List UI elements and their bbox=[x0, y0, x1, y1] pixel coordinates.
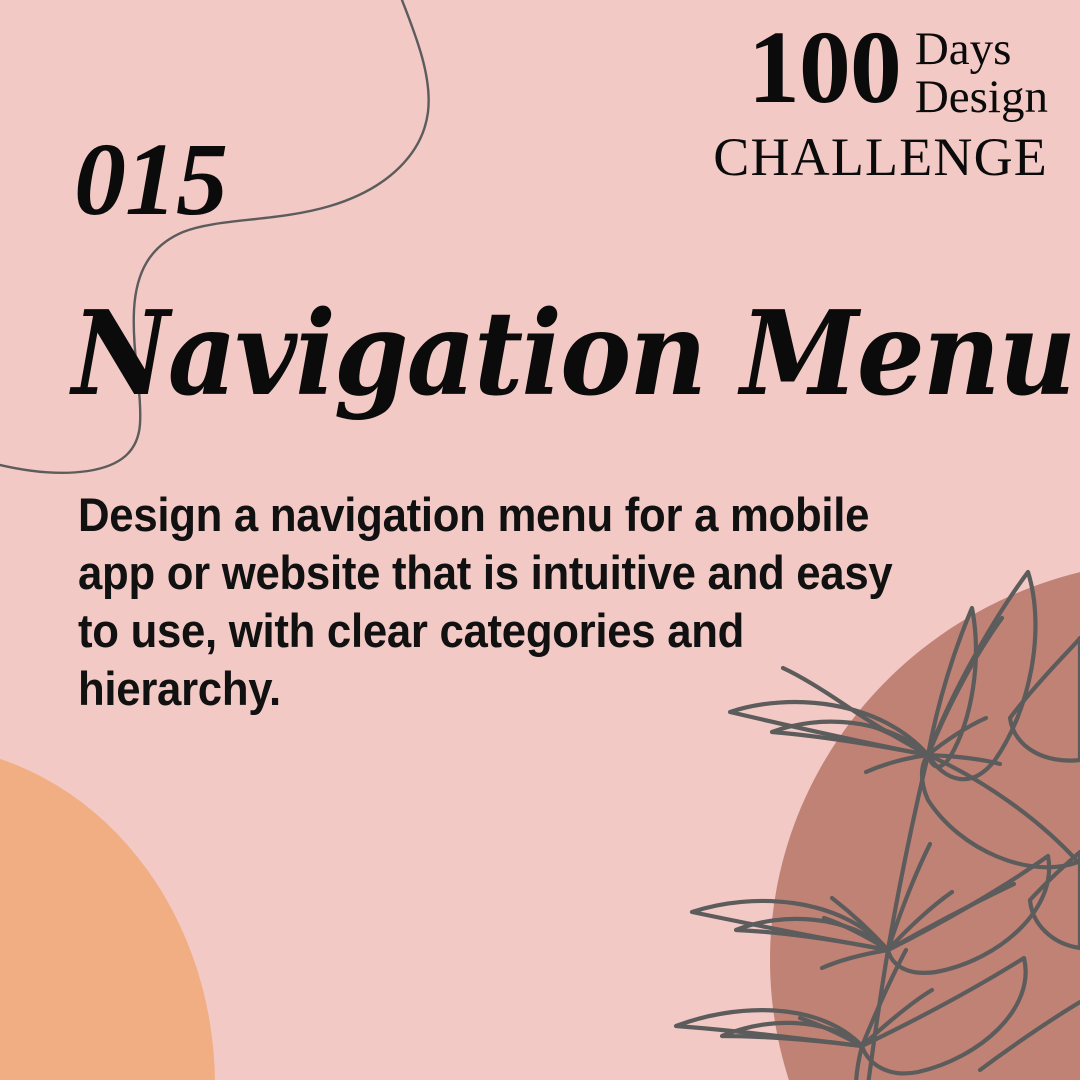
leaf-stem-main bbox=[868, 755, 928, 1080]
leaf-b-right-vein bbox=[888, 884, 1014, 950]
body-paragraph: Design a navigation menu for a mobile ap… bbox=[78, 486, 958, 718]
leaf-b-left-outer bbox=[692, 901, 888, 950]
body-line-3: to use, with clear categories and bbox=[78, 602, 896, 660]
leaf-c-spike3 bbox=[800, 1018, 862, 1046]
day-number: 015 bbox=[74, 128, 227, 232]
badge-word-stack: Days Design bbox=[915, 22, 1048, 122]
page-title: Navigation Menu bbox=[72, 296, 955, 412]
leaf-far-right-3 bbox=[980, 1002, 1080, 1070]
body-line-1: Design a navigation menu for a mobile bbox=[78, 486, 896, 544]
badge-hundred-number: 100 bbox=[748, 26, 901, 109]
day-number-block: 015 bbox=[74, 128, 227, 232]
body-line-2: app or website that is intuitive and eas… bbox=[78, 544, 896, 602]
leaf-a-right-lower bbox=[922, 755, 1078, 867]
leaf-a-spike4 bbox=[872, 726, 928, 755]
leaf-b-spike2 bbox=[888, 892, 952, 950]
leaf-a-spike2 bbox=[928, 718, 986, 755]
leaf-stem-lower bbox=[832, 898, 888, 950]
challenge-badge: 100 Days Design CHALLENGE bbox=[713, 22, 1048, 184]
leaf-b-spike4 bbox=[822, 950, 888, 968]
body-line-4: hierarchy. bbox=[78, 660, 896, 718]
leaf-b-spike1 bbox=[888, 844, 930, 950]
leaf-far-right-1 bbox=[1010, 638, 1080, 761]
leaf-c-left-outer bbox=[676, 1010, 862, 1046]
leaf-a-spike3 bbox=[928, 755, 1000, 764]
leaf-c-left-inner bbox=[722, 1023, 862, 1046]
leaf-c-spike4 bbox=[856, 1046, 862, 1080]
leaf-c-spike1 bbox=[862, 950, 906, 1046]
orange-blob bbox=[0, 745, 215, 1080]
badge-days-label: Days bbox=[915, 26, 1048, 74]
poster-canvas: 100 Days Design CHALLENGE 015 Navigation… bbox=[0, 0, 1080, 1080]
title-block: Navigation Menu bbox=[72, 296, 1032, 412]
leaf-a-left-inner bbox=[772, 722, 928, 755]
leaf-b-left-inner bbox=[736, 919, 888, 950]
badge-top-row: 100 Days Design bbox=[713, 22, 1048, 122]
leaf-c-spike2 bbox=[862, 990, 932, 1046]
badge-design-label: Design bbox=[915, 74, 1048, 122]
leaf-c-right bbox=[862, 958, 1026, 1073]
leaf-a-spike5 bbox=[866, 755, 928, 772]
badge-challenge-label: CHALLENGE bbox=[713, 130, 1048, 184]
leaf-b-right bbox=[888, 856, 1049, 973]
leaf-b-spike3 bbox=[824, 918, 888, 950]
leaf-far-right-2 bbox=[1030, 852, 1080, 948]
